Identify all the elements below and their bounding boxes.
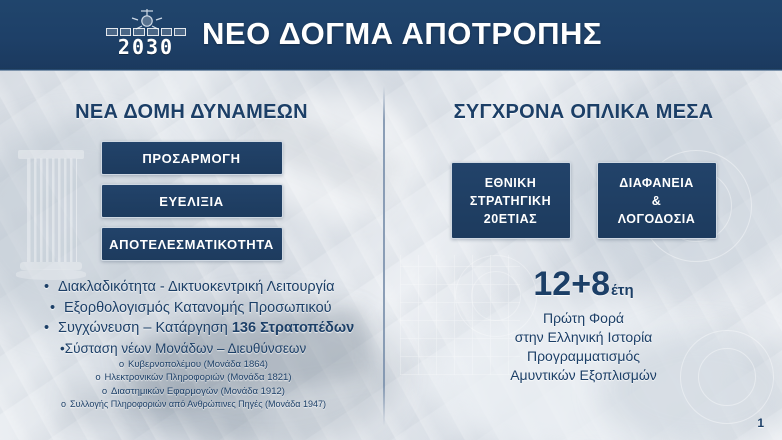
page-number: 1	[757, 416, 764, 430]
list-item-text: Συλλογής Πληροφοριών από Ανθρώπινες Πηγέ…	[70, 399, 326, 409]
list-item: •Διακλαδικότητα - Δικτυοκεντρική Λειτουρ…	[0, 277, 383, 298]
list-item-text: Ηλεκτρονικών Πληροφοριών (Μονάδα 1821)	[104, 372, 291, 383]
list-item-text: Σύσταση νέων Μονάδων – Διευθύνσεων	[65, 341, 306, 356]
list-item: •Συγχώνευση – Κατάργηση 136 Στρατοπέδων	[0, 318, 383, 339]
list-item: oΗλεκτρονικών Πληροφοριών (Μονάδα 1821)	[0, 371, 383, 384]
figure-caption-line: Αμυντικών Εξοπλισμών	[385, 366, 782, 385]
bullet-marker: o	[115, 358, 128, 371]
list-item: oΚυβερνοπολέμου (Μονάδα 1864)	[0, 358, 383, 371]
figure-unit: έτη	[611, 282, 634, 299]
page-title: ΝΕΟ ΔΟΓΜΑ ΑΠΟΤΡΟΠΗΣ	[202, 16, 602, 52]
box-evelixia[interactable]: ΕΥΕΛΙΞΙΑ	[101, 184, 283, 218]
list-item-text: Κυβερνοπολέμου (Μονάδα 1864)	[128, 359, 268, 370]
slide-canvas: 2030 ΝΕΟ ΔΟΓΜΑ ΑΠΟΤΡΟΠΗΣ ΝΕΑ ΔΟΜΗ ΔΥΝΑΜΕ…	[0, 0, 782, 440]
brand-logo: 2030	[104, 8, 188, 60]
figure-caption-line: στην Ελληνική Ιστορία	[385, 328, 782, 347]
bullet-marker: o	[98, 385, 111, 398]
bullet-marker: •	[50, 298, 64, 319]
left-column: ΝΕΑ ΔΟΜΗ ΔΥΝΑΜΕΩΝ ΠΡΟΣΑΡΜΟΓΗ ΕΥΕΛΙΞΙΑ ΑΠ…	[0, 86, 383, 440]
budget-figure-block: 12+8έτη Πρώτη Φορά στην Ελληνική Ιστορία…	[385, 267, 782, 384]
list-item: oΣυλλογής Πληροφοριών από Ανθρώπινες Πηγ…	[0, 398, 383, 411]
logo-year: 2030	[106, 36, 186, 58]
box-line: &	[602, 192, 712, 210]
list-item: •Σύσταση νέων Μονάδων – Διευθύνσεων	[0, 339, 383, 358]
list-item: oΔιαστημικών Εφαρμογών (Μονάδα 1912)	[0, 385, 383, 398]
left-column-boxes: ΠΡΟΣΑΡΜΟΓΗ ΕΥΕΛΙΞΙΑ ΑΠΟΤΕΛΕΣΜΑΤΙΚΟΤΗΤΑ	[0, 141, 383, 261]
list-item-text: Συγχώνευση – Κατάργηση	[58, 320, 232, 336]
left-column-bullet-list: •Διακλαδικότητα - Δικτυοκεντρική Λειτουρ…	[0, 277, 383, 411]
box-apotelesmatikotita[interactable]: ΑΠΟΤΕΛΕΣΜΑΤΙΚΟΤΗΤΑ	[101, 227, 283, 261]
box-line: ΕΘΝΙΚΗ	[456, 174, 566, 192]
figure-caption-line: Πρώτη Φορά	[385, 309, 782, 328]
right-column-boxes: ΕΘΝΙΚΗ ΣΤΡΑΤΗΓΙΚΗ 20ΕΤΙΑΣ ΔΙΑΦΑΝΕΙΑ & ΛΟ…	[385, 162, 782, 239]
header-band: 2030 ΝΕΟ ΔΟΓΜΑ ΑΠΟΤΡΟΠΗΣ	[0, 0, 782, 68]
right-column-title: ΣΥΓΧΡΟΝΑ ΟΠΛΙΚΑ ΜΕΣΑ	[385, 101, 782, 124]
list-item: •Εξορθολογισμός Κατανομής Προσωπικού	[0, 298, 383, 319]
figure-caption: Πρώτη Φορά στην Ελληνική Ιστορία Προγραμ…	[385, 309, 782, 384]
list-item-text: Εξορθολογισμός Κατανομής Προσωπικού	[64, 300, 332, 316]
header-underline	[0, 68, 782, 71]
bullet-marker: •	[44, 318, 58, 339]
bullet-marker: o	[57, 398, 70, 411]
right-column: ΣΥΓΧΡΟΝΑ ΟΠΛΙΚΑ ΜΕΣΑ ΕΘΝΙΚΗ ΣΤΡΑΤΗΓΙΚΗ 2…	[385, 86, 782, 440]
bullet-marker: o	[91, 371, 104, 384]
figure-caption-line: Προγραμματισμός	[385, 347, 782, 366]
military-emblem-icon	[130, 8, 164, 30]
left-column-title: ΝΕΑ ΔΟΜΗ ΔΥΝΑΜΕΩΝ	[0, 101, 383, 124]
box-ethniki-stratigiki[interactable]: ΕΘΝΙΚΗ ΣΤΡΑΤΗΓΙΚΗ 20ΕΤΙΑΣ	[451, 162, 571, 239]
box-line: ΔΙΑΦΑΝΕΙΑ	[602, 174, 712, 192]
list-item-emphasis: 136 Στρατοπέδων	[232, 320, 354, 336]
box-prosarmogi[interactable]: ΠΡΟΣΑΡΜΟΓΗ	[101, 141, 283, 175]
list-item-text: Διαστημικών Εφαρμογών (Μονάδα 1912)	[111, 386, 285, 397]
box-diafaneia-logodosia[interactable]: ΔΙΑΦΑΝΕΙΑ & ΛΟΓΟΔΟΣΙΑ	[597, 162, 717, 239]
figure-value: 12+8	[533, 267, 610, 301]
list-item-text: Διακλαδικότητα - Δικτυοκεντρική Λειτουργ…	[58, 279, 335, 295]
box-line: 20ΕΤΙΑΣ	[456, 210, 566, 228]
bullet-marker: •	[44, 277, 58, 298]
box-line: ΣΤΡΑΤΗΓΙΚΗ	[456, 192, 566, 210]
box-line: ΛΟΓΟΔΟΣΙΑ	[602, 210, 712, 228]
